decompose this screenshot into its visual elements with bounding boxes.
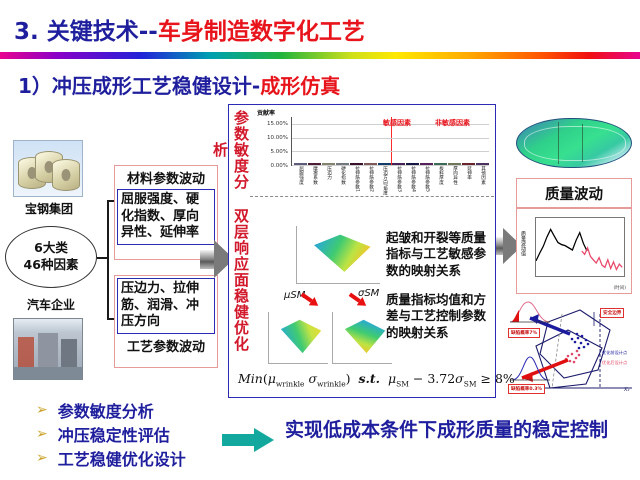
timeseries-line-after xyxy=(582,248,622,270)
list-item[interactable]: ➢ 参数敏度分析 xyxy=(36,398,186,422)
timeseries-line-before xyxy=(536,229,587,260)
material-box-header: 材料参数波动 xyxy=(115,166,217,189)
page-title: 3. 关键技术--车身制造数字化工艺 xyxy=(14,12,365,46)
coil-caption: 宝钢集团 xyxy=(14,200,84,217)
rainbow-divider xyxy=(0,52,640,59)
scatter-before xyxy=(571,333,590,350)
arrow-bullet-icon: ➢ xyxy=(36,403,48,417)
coil-icon xyxy=(52,159,80,191)
mapping-text-quality-indicator: 起皱和开裂等质量指标与工艺敏感参数的映射关系 xyxy=(386,230,490,279)
sensitivity-bar-chart: 贡献率 屈服强度摩擦系数压边力硬化指数拉伸筋参数1拉伸筋参数2压边方向/角度拉伸… xyxy=(255,108,491,192)
quality-fluctuation-title: 质量波动 xyxy=(516,178,632,208)
timeseries-svg xyxy=(536,218,624,276)
bullet-label: 工艺稳健优化设计 xyxy=(58,446,186,470)
timeseries-y-label: 质量波动值 xyxy=(520,231,527,256)
legend-before: 优化前设计点 xyxy=(602,350,627,356)
timeseries-plot xyxy=(535,217,625,277)
chart-gridline xyxy=(292,165,489,166)
sensitivity-analysis-vertical-label: 参数敏度分析 xyxy=(232,110,252,190)
chart-x-tick-label: 拉伸筋参数2 xyxy=(368,166,374,192)
robust-optimization-vertical-label: 双层响应面稳健优化 xyxy=(232,196,252,364)
legend-after: 优化后设计点 xyxy=(602,360,627,366)
process-box-body: 压边力、拉伸筋、润滑、冲压方向 xyxy=(117,278,215,334)
chart-label-nonsensitive: 非敏感因素 xyxy=(435,118,470,128)
bullet-label: 参数敏度分析 xyxy=(58,398,154,422)
list-item[interactable]: ➢ 冲压稳定性评估 xyxy=(36,422,186,446)
chart-x-tick-label: 硬化指数 xyxy=(340,166,346,184)
chart-x-tick-label: 拉伸筋参数1 xyxy=(354,166,360,192)
chart-y-axis-title: 贡献率 xyxy=(257,108,275,117)
bullet-label: 冲压稳定性评估 xyxy=(58,422,170,446)
chart-x-tick-label: 其他因素 xyxy=(480,166,486,184)
surface-plot-top xyxy=(296,226,380,284)
tag-defect-probability-high: 缺陷概率7% xyxy=(508,328,540,338)
title-part-1: 3. 关键技术-- xyxy=(14,19,158,45)
car-body-shape xyxy=(516,118,632,168)
distribution-curve-after xyxy=(508,354,552,382)
center-panel-divider xyxy=(250,196,494,197)
chart-y-tick-label: 10.00% xyxy=(255,135,288,141)
chart-x-tick-label: 摩擦系数 xyxy=(312,166,318,184)
subtitle-part-2: 成形仿真 xyxy=(260,74,340,98)
chart-x-tick-label: 拉伸筋参数5 xyxy=(424,166,430,192)
slide-root: 3. 关键技术--车身制造数字化工艺 1）冲压成形工艺稳健设计-成形仿真 宝钢集… xyxy=(0,0,640,480)
reliability-axis-x: X₂ xyxy=(623,387,629,393)
chart-x-tick-label: 拉伸筋参数3 xyxy=(396,166,402,192)
process-parameter-box: 压边力、拉伸筋、润滑、冲压方向 工艺参数波动 xyxy=(114,275,218,368)
page-subtitle: 1）冲压成形工艺稳健设计-成形仿真 xyxy=(18,70,340,99)
car-body-seam xyxy=(558,122,559,164)
reliability-diagram: X₂ X₁ 安全边界 缺陷概率7% 缺陷概率0.3% 优化前设计点 优化后设计点 xyxy=(506,296,638,396)
process-box-header: 工艺参数波动 xyxy=(115,334,217,357)
chart-x-tick-label: 压边方向/角度 xyxy=(382,166,388,195)
list-item[interactable]: ➢ 工艺稳健优化设计 xyxy=(36,446,186,470)
chart-x-tick-label: 屈服强度 xyxy=(298,166,304,184)
tag-defect-probability-low: 缺陷概率0.3% xyxy=(508,384,545,394)
ellipse-line-1: 6大类 xyxy=(34,240,68,257)
chart-y-tick-label: 5.00% xyxy=(255,149,288,155)
chart-x-tick-label: 厚向异性 xyxy=(452,166,458,184)
connector-vertical xyxy=(107,200,109,320)
chart-y-tick-label: 15.00% xyxy=(255,121,288,127)
objective-formula: Min(μwrinkle σwrinkle) s.t. μSM − 3.72σS… xyxy=(238,371,515,389)
surface-plot-variance xyxy=(332,312,392,364)
title-part-2: 车身制造数字化工艺 xyxy=(158,19,365,45)
car-body-seam xyxy=(582,124,583,162)
factor-count-ellipse: 6大类 46种因素 xyxy=(5,226,97,288)
conclusion-text: 实现低成本条件下成形质量的稳定控制 xyxy=(285,418,635,443)
plant-caption: 汽车企业 xyxy=(12,296,90,313)
press-plant-image xyxy=(13,318,83,380)
chart-x-tick-label: 拉伸筋参数4 xyxy=(410,166,416,192)
chart-gridline xyxy=(292,138,489,139)
chart-x-tick-label: 压边力 xyxy=(326,166,332,180)
timeseries-x-label: (时间) xyxy=(613,285,626,291)
ellipse-line-2: 46种因素 xyxy=(24,257,79,274)
arrow-bullet-icon: ➢ xyxy=(36,427,48,441)
car-body-fem-model xyxy=(512,112,634,174)
distribution-curve-before xyxy=(508,298,552,324)
mapping-text-mean-variance: 质量指标均值和方差与工艺控制参数的映射关系 xyxy=(386,292,490,341)
bullet-list: ➢ 参数敏度分析 ➢ 冲压稳定性评估 ➢ 工艺稳健优化设计 xyxy=(36,398,186,470)
material-box-body: 屈服强度、硬化指数、厚向异性、延伸率 xyxy=(117,189,215,245)
arrow-bullet-icon: ➢ xyxy=(36,451,48,465)
chart-x-tick-label: 板料厚度 xyxy=(438,166,444,184)
chart-y-tick-label: 0.00% xyxy=(255,163,288,169)
steel-coil-image xyxy=(13,140,83,197)
subtitle-part-1: 1）冲压成形工艺稳健设计- xyxy=(18,74,260,98)
quality-timeseries-box: 质量波动值 (时间) xyxy=(516,208,632,294)
chart-x-tick-label: 延伸率 xyxy=(466,166,472,180)
chart-gridline xyxy=(292,151,489,152)
chart-label-sensitive: 敏感因素 xyxy=(383,118,411,128)
conclusion-arrow-icon xyxy=(222,428,274,452)
surface-plot-mean xyxy=(268,312,328,364)
tag-safety-boundary: 安全边界 xyxy=(600,308,624,318)
